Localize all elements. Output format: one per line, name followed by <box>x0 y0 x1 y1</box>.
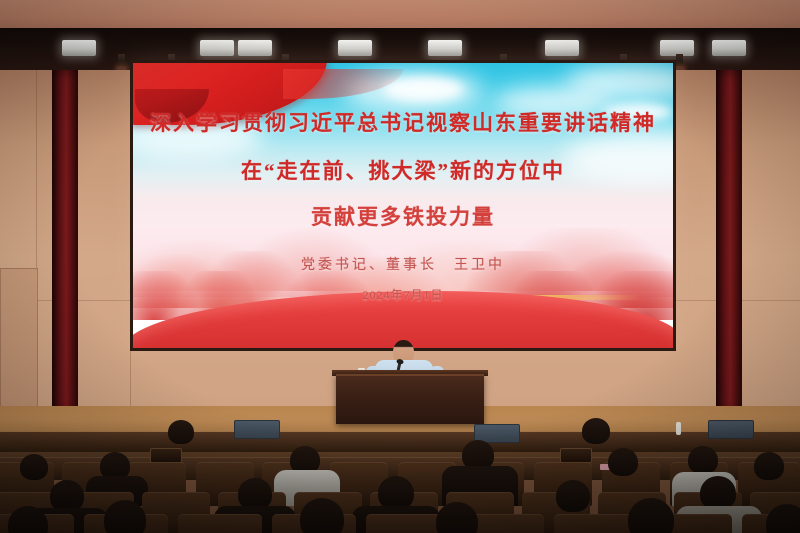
stage-light-icon <box>62 40 96 56</box>
slide-title-line-2: 在“走在前、挑大梁”新的方位中 <box>133 155 673 185</box>
stage-light-icon <box>428 40 462 56</box>
seated-audience <box>0 418 800 533</box>
audience-desk-row <box>0 432 800 452</box>
nameplate-icon <box>560 448 592 463</box>
wall-panel <box>78 70 131 410</box>
stage-light-icon <box>712 40 746 56</box>
audience-head <box>628 498 674 533</box>
audience-head <box>700 476 736 510</box>
slide-presenter: 党委书记、董事长 王卫中 <box>133 254 673 274</box>
audience-seat <box>178 514 262 533</box>
laptop-icon <box>708 420 754 439</box>
audience-head <box>20 454 48 480</box>
slide-title-line-3: 贡献更多铁投力量 <box>133 201 673 231</box>
slide-text-block: 深入学习贯彻习近平总书记视察山东重要讲话精神 在“走在前、挑大梁”新的方位中 贡… <box>133 63 673 348</box>
stage-light-stem <box>676 54 683 68</box>
stage-light-icon <box>238 40 272 56</box>
led-presentation-screen[interactable]: 深入学习贯彻习近平总书记视察山东重要讲话精神 在“走在前、挑大梁”新的方位中 贡… <box>130 60 676 351</box>
screenshot-root: 深入学习贯彻习近平总书记视察山东重要讲话精神 在“走在前、挑大梁”新的方位中 贡… <box>0 0 800 533</box>
wall-panel <box>676 70 717 410</box>
stage-light-icon <box>545 40 579 56</box>
audience-head <box>378 476 414 510</box>
audience-head <box>104 500 146 533</box>
ceiling-surface <box>0 0 800 30</box>
slide-title-line-1: 深入学习贯彻习近平总书记视察山东重要讲话精神 <box>133 107 673 137</box>
stage-light-icon <box>200 40 234 56</box>
right-stage-curtain <box>716 70 742 415</box>
audience-head <box>582 418 610 444</box>
nameplate-icon <box>150 448 182 463</box>
laptop-icon <box>234 420 280 439</box>
stage-light-stem <box>118 54 125 68</box>
stage-side-door[interactable] <box>0 268 38 418</box>
audience-head <box>688 446 718 474</box>
stage-light-icon <box>338 40 372 56</box>
audience-head <box>300 498 344 533</box>
audience-head <box>608 448 638 476</box>
wall-panel <box>742 70 800 410</box>
slide-date: 2024年7月1日 <box>133 286 673 303</box>
water-bottle-icon <box>676 422 681 435</box>
audience-head <box>556 480 590 512</box>
audience-head <box>754 452 784 480</box>
audience-head <box>168 420 194 444</box>
speaker-podium <box>336 374 484 424</box>
audience-seat <box>554 514 638 533</box>
left-stage-curtain <box>52 70 78 415</box>
slide-surface: 深入学习贯彻习近平总书记视察山东重要讲话精神 在“走在前、挑大梁”新的方位中 贡… <box>133 63 673 348</box>
